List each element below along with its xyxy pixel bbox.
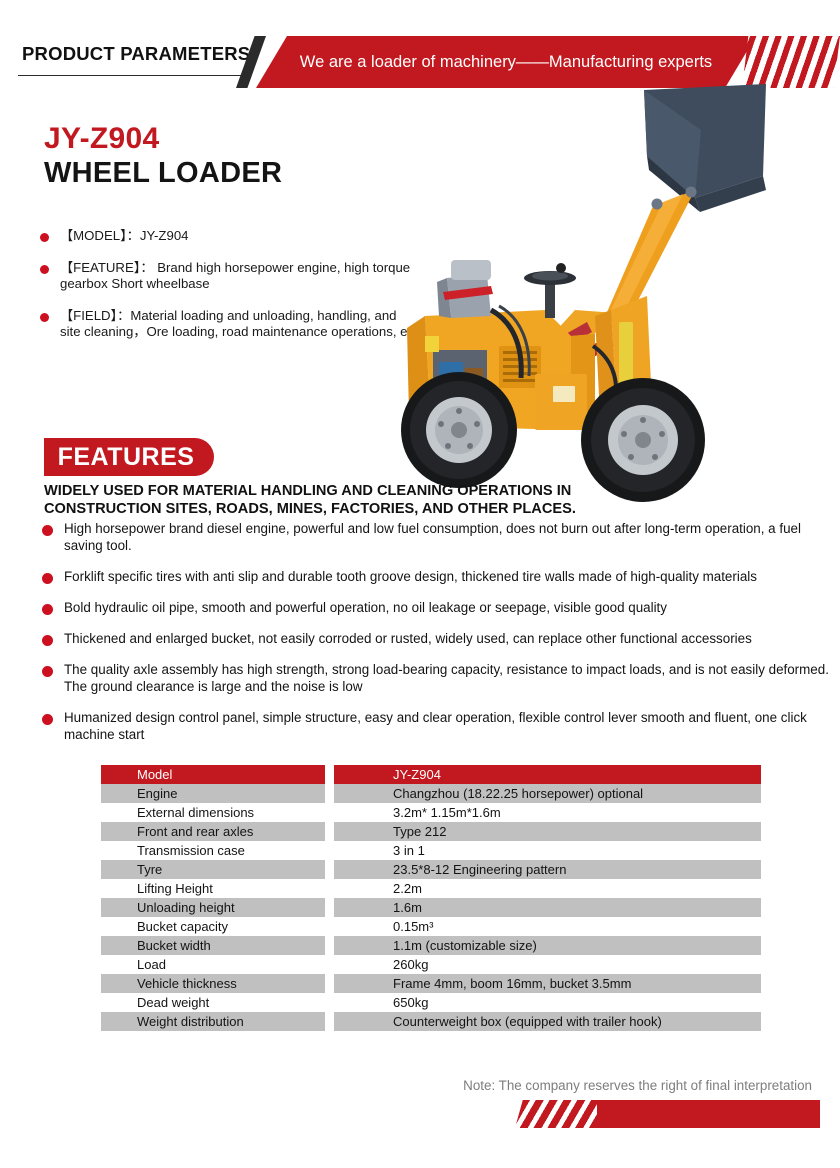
table-cell-label: Unloading height [101,898,325,917]
list-item: Bold hydraulic oil pipe, smooth and powe… [40,599,830,616]
bullet-dot-icon [42,604,53,615]
list-item: 【FEATURE】： Brand high horsepower engine,… [40,260,420,293]
table-row: Lifting Height 2.2m [101,879,761,898]
list-item: The quality axle assembly has high stren… [40,661,830,695]
spec-bullet-text: 【FEATURE】： Brand high horsepower engine,… [60,260,420,293]
table-cell-label: External dimensions [101,803,325,822]
table-row: Load 260kg [101,955,761,974]
feature-text: The quality axle assembly has high stren… [64,661,830,695]
table-cell-label: Bucket capacity [101,917,325,936]
model-code-title: JY-Z904 [44,122,160,156]
table-cell-label: Dead weight [101,993,325,1012]
table-cell-label: Weight distribution [101,1012,325,1031]
list-item: 【MODEL】：JY-Z904 [40,228,420,245]
bullet-dot-icon [42,525,53,536]
table-cell-value: JY-Z904 [334,765,761,784]
feature-text: Humanized design control panel, simple s… [64,709,830,743]
bullet-dot-icon [42,666,53,677]
features-badge-label: FEATURES [44,438,214,476]
column-gap [325,993,334,1012]
column-gap [325,765,334,784]
table-cell-value: Type 212 [334,822,761,841]
table-row: Model JY-Z904 [101,765,761,784]
bucket [644,84,766,212]
table-cell-value: Changzhou (18.22.25 horsepower) optional [334,784,761,803]
table-cell-label: Tyre [101,860,325,879]
table-row: Unloading height 1.6m [101,898,761,917]
table-cell-label: Bucket width [101,936,325,955]
column-gap [325,936,334,955]
table-row: Dead weight 650kg [101,993,761,1012]
product-name-title: WHEEL LOADER [44,157,282,190]
product-spec-sheet: PRODUCT PARAMETERS We are a loader of ma… [0,0,840,1168]
table-row: Bucket capacity 0.15m³ [101,917,761,936]
features-badge: FEATURES [44,438,214,476]
list-item: Forklift specific tires with anti slip a… [40,568,830,585]
column-gap [325,955,334,974]
features-list: High horsepower brand diesel engine, pow… [40,520,830,757]
table-row: Vehicle thickness Frame 4mm, boom 16mm, … [101,974,761,993]
table-cell-label: Front and rear axles [101,822,325,841]
column-gap [325,860,334,879]
rear-wheel [401,372,517,488]
column-gap [325,822,334,841]
feature-text: Bold hydraulic oil pipe, smooth and powe… [64,599,830,616]
page-title: PRODUCT PARAMETERS [22,43,250,65]
bullet-dot-icon [42,635,53,646]
list-item: Thickened and enlarged bucket, not easil… [40,630,830,647]
specification-table: Model JY-Z904 Engine Changzhou (18.22.25… [101,765,761,1031]
table-row: Engine Changzhou (18.22.25 horsepower) o… [101,784,761,803]
table-cell-value: 23.5*8-12 Engineering pattern [334,860,761,879]
table-cell-label: Engine [101,784,325,803]
title-underline [18,75,245,76]
table-row: Transmission case 3 in 1 [101,841,761,860]
table-row: External dimensions 3.2m* 1.15m*1.6m [101,803,761,822]
table-cell-value: 2.2m [334,879,761,898]
feature-text: Forklift specific tires with anti slip a… [64,568,830,585]
column-gap [325,784,334,803]
list-item: 【FIELD】：Material loading and unloading, … [40,308,420,341]
column-gap [325,917,334,936]
bullet-dot-icon [40,313,49,322]
column-gap [325,803,334,822]
footer-stripes-decor [515,1100,597,1128]
features-subtitle: WIDELY USED FOR MATERIAL HANDLING AND CL… [44,483,684,518]
feature-text: Thickened and enlarged bucket, not easil… [64,630,830,647]
table-cell-value: Frame 4mm, boom 16mm, bucket 3.5mm [334,974,761,993]
table-row: Weight distribution Counterweight box (e… [101,1012,761,1031]
table-cell-label: Load [101,955,325,974]
spec-bullet-text: 【MODEL】：JY-Z904 [60,228,420,245]
table-cell-value: 3.2m* 1.15m*1.6m [334,803,761,822]
feature-text: High horsepower brand diesel engine, pow… [64,520,830,554]
table-cell-value: 3 in 1 [334,841,761,860]
table-cell-value: 1.1m (customizable size) [334,936,761,955]
column-gap [325,898,334,917]
table-cell-value: 1.6m [334,898,761,917]
list-item: High horsepower brand diesel engine, pow… [40,520,830,554]
table-cell-value: 650kg [334,993,761,1012]
bullet-dot-icon [40,265,49,274]
spec-bullet-text: 【FIELD】：Material loading and unloading, … [60,308,420,341]
table-row: Front and rear axles Type 212 [101,822,761,841]
table-cell-label: Model [101,765,325,784]
spec-bullet-list: 【MODEL】：JY-Z904 【FEATURE】： Brand high ho… [40,228,420,356]
column-gap [325,974,334,993]
wheel-loader-photo [395,78,840,508]
table-cell-value: Counterweight box (equipped with trailer… [334,1012,761,1031]
column-gap [325,1012,334,1031]
list-item: Humanized design control panel, simple s… [40,709,830,743]
table-cell-value: 0.15m³ [334,917,761,936]
table-row: Bucket width 1.1m (customizable size) [101,936,761,955]
bullet-dot-icon [42,573,53,584]
bullet-dot-icon [42,714,53,725]
column-gap [325,879,334,898]
table-cell-label: Transmission case [101,841,325,860]
table-cell-label: Vehicle thickness [101,974,325,993]
footer-note: Note: The company reserves the right of … [463,1078,812,1093]
table-row: Tyre 23.5*8-12 Engineering pattern [101,860,761,879]
table-cell-value: 260kg [334,955,761,974]
column-gap [325,841,334,860]
bullet-dot-icon [40,233,49,242]
table-cell-label: Lifting Height [101,879,325,898]
